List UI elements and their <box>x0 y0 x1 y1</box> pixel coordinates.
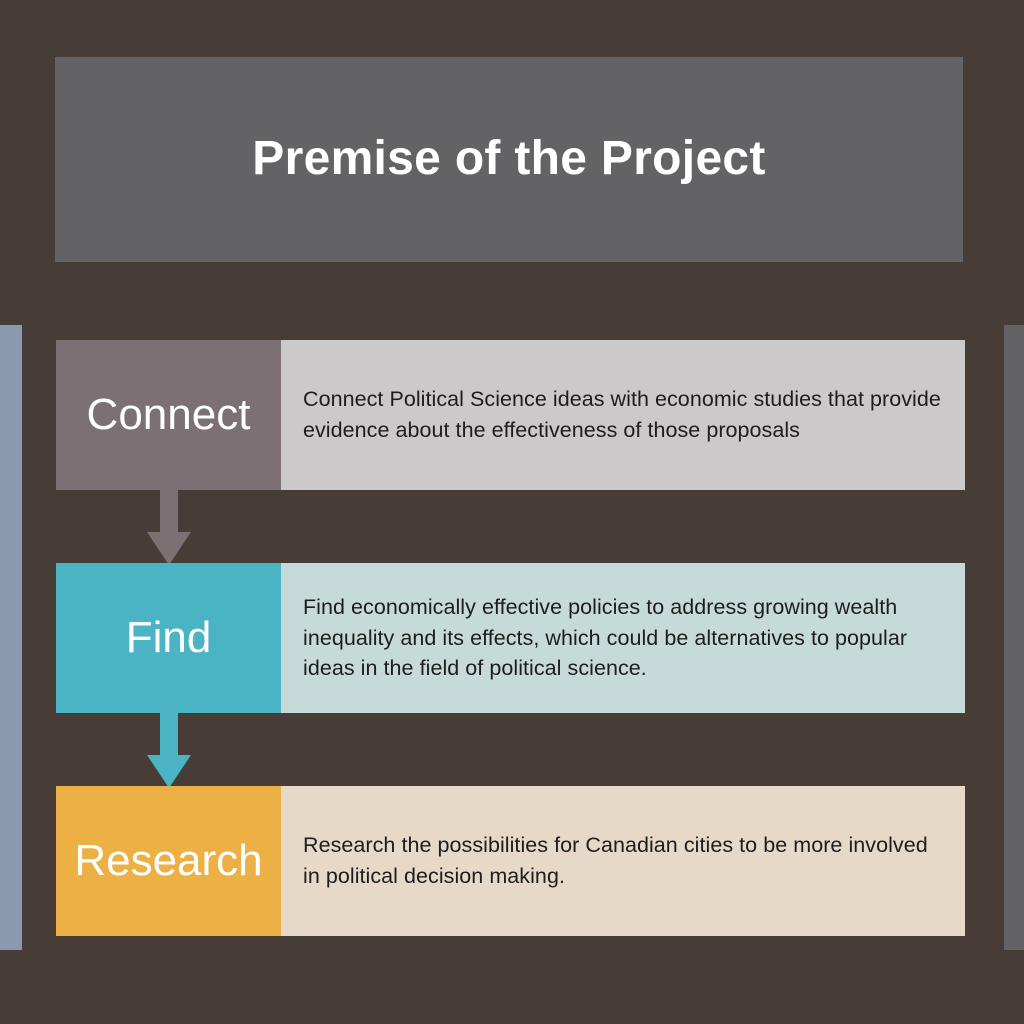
arrow-down-icon <box>147 755 191 788</box>
step-row: Find Find economically effective policie… <box>56 563 965 713</box>
step-description-find: Find economically effective policies to … <box>281 563 965 713</box>
step-description-research: Research the possibilities for Canadian … <box>281 786 965 936</box>
step-description-connect: Connect Political Science ideas with eco… <box>281 340 965 490</box>
title-banner: Premise of the Project <box>55 57 963 262</box>
step-label-research: Research <box>56 786 281 936</box>
previous-slide-edge[interactable] <box>0 325 22 950</box>
arrow-down-icon <box>147 532 191 565</box>
arrow-down-icon-shaft <box>160 713 178 755</box>
step-row: Research Research the possibilities for … <box>56 786 965 936</box>
slide-canvas: Premise of the Project Connect Connect P… <box>0 0 1024 1024</box>
page-title: Premise of the Project <box>252 133 765 186</box>
step-row: Connect Connect Political Science ideas … <box>56 340 965 490</box>
next-slide-edge[interactable] <box>1004 325 1024 950</box>
arrow-down-icon-shaft <box>160 490 178 532</box>
step-label-find: Find <box>56 563 281 713</box>
step-label-connect: Connect <box>56 340 281 490</box>
